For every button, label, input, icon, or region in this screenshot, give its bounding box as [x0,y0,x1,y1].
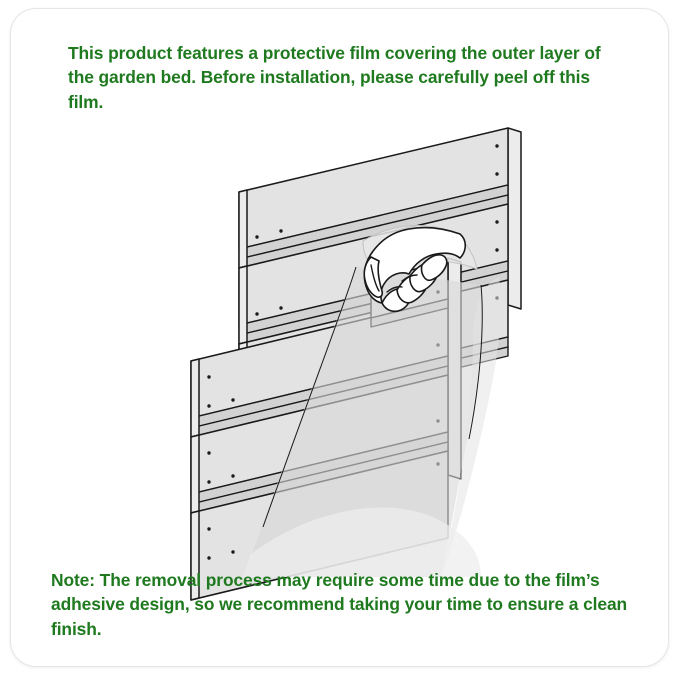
protective-film [243,226,501,577]
fastener-holes-upper [255,144,498,315]
hand [364,228,465,312]
fastener-holes-lower [207,290,439,559]
lower-panel-assembly [191,258,461,600]
upper-panel-assembly [239,128,521,420]
bottom-note-text: Note: The removal process may require so… [51,568,635,641]
instruction-card: This product features a protective film … [10,8,669,667]
top-instruction-text: This product features a protective film … [68,41,624,114]
